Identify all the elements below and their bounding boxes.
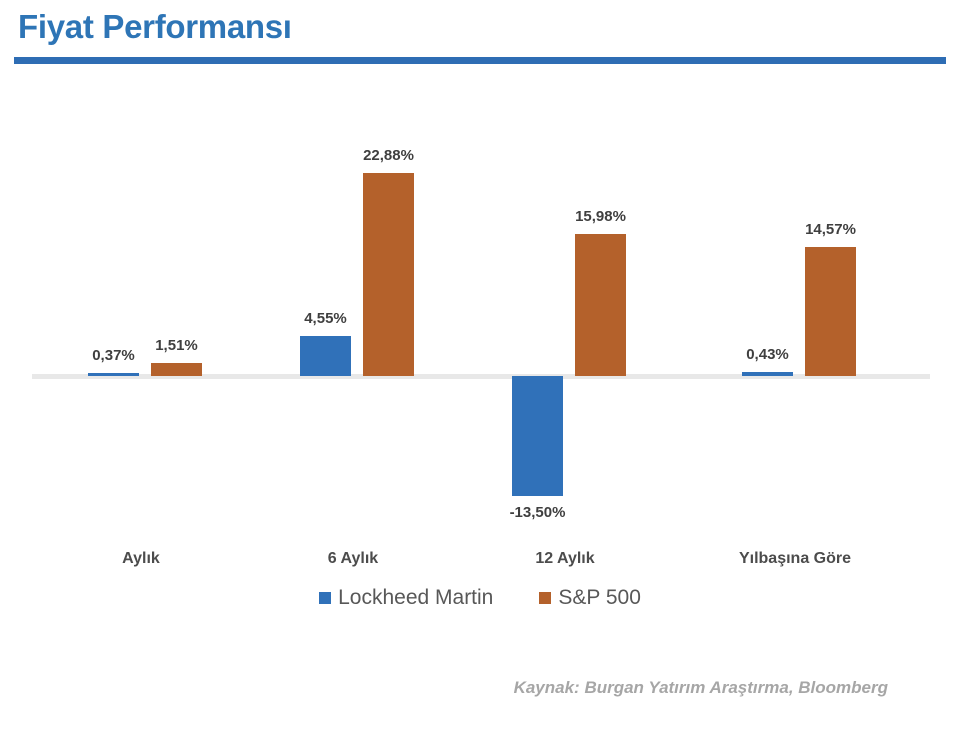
bar-2-series-1[interactable] xyxy=(575,234,626,376)
category-label-0: Aylık xyxy=(58,550,224,568)
source-note: Kaynak: Burgan Yatırım Araştırma, Bloomb… xyxy=(0,678,888,698)
chart-legend: Lockheed Martin S&P 500 xyxy=(0,583,960,613)
bar-value-label-2-series-1: 15,98% xyxy=(546,208,656,225)
legend-item-series-1[interactable]: S&P 500 xyxy=(539,586,641,610)
bar-1-series-0[interactable] xyxy=(300,336,351,376)
category-label-2: 12 Aylık xyxy=(482,550,648,568)
bar-3-series-1[interactable] xyxy=(805,247,856,376)
legend-item-series-0[interactable]: Lockheed Martin xyxy=(319,586,493,610)
legend-label: Lockheed Martin xyxy=(338,586,493,610)
bar-0-series-1[interactable] xyxy=(151,363,202,376)
chart-header: Fiyat Performansı xyxy=(0,0,960,70)
square-marker-icon xyxy=(539,592,551,604)
bar-group-1: 4,55%22,88% xyxy=(248,70,458,560)
page-title: Fiyat Performansı xyxy=(18,8,292,46)
title-underline-rule xyxy=(14,57,946,64)
bar-group-0: 0,37%1,51% xyxy=(36,70,246,560)
bar-value-label-3-series-1: 14,57% xyxy=(776,221,886,238)
bar-group-2: -13,50%15,98% xyxy=(460,70,670,560)
square-marker-icon xyxy=(319,592,331,604)
bar-value-label-0-series-1: 1,51% xyxy=(122,337,232,354)
bar-0-series-0[interactable] xyxy=(88,373,139,376)
bar-2-series-0[interactable] xyxy=(512,376,563,496)
category-axis-labels: Aylık6 Aylık12 AylıkYılbaşına Göre xyxy=(0,550,960,576)
bar-group-3: 0,43%14,57% xyxy=(690,70,900,560)
bar-3-series-0[interactable] xyxy=(742,372,793,376)
category-label-3: Yılbaşına Göre xyxy=(712,550,878,568)
legend-label: S&P 500 xyxy=(558,586,641,610)
category-label-1: 6 Aylık xyxy=(270,550,436,568)
chart-plot-area: 0,37%1,51%4,55%22,88%-13,50%15,98%0,43%1… xyxy=(0,70,960,560)
bar-value-label-1-series-1: 22,88% xyxy=(334,147,444,164)
bar-1-series-1[interactable] xyxy=(363,173,414,376)
bar-value-label-2-series-0: -13,50% xyxy=(483,504,593,521)
